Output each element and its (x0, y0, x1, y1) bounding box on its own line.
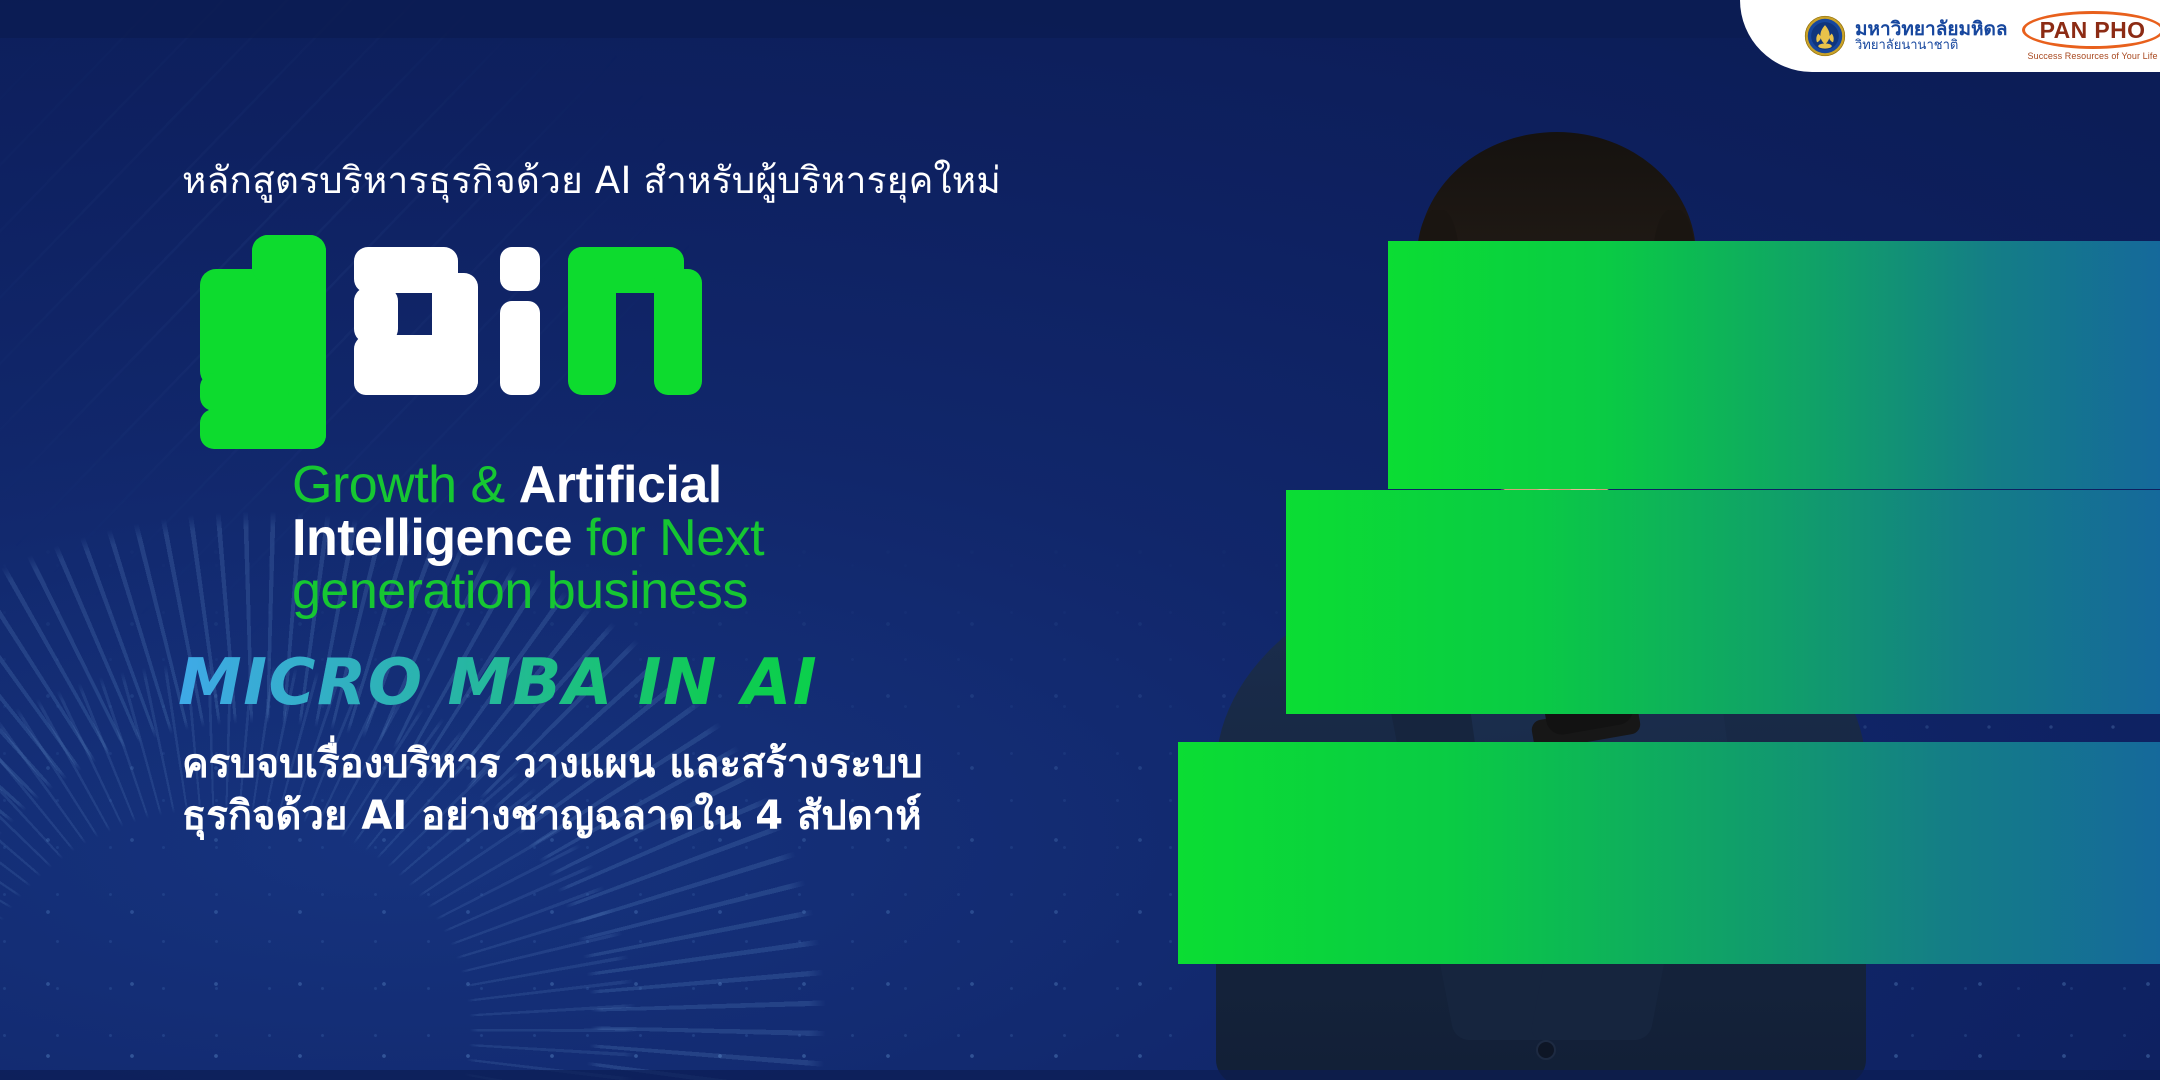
panpho-tagline: Success Resources of Your Life (2027, 51, 2157, 61)
panpho-logo-lockup: PAN PHO Success Resources of Your Life (2022, 11, 2160, 61)
mahidol-text: มหาวิทยาลัยมหิดล วิทยาลัยนานาชาติ (1855, 20, 2008, 53)
tagline-line3: generation business (292, 562, 748, 620)
logo-badge: มหาวิทยาลัยมหิดล วิทยาลัยนานาชาติ PAN PH… (1740, 0, 2160, 72)
thai-body-line-1: ครบจบเรื่องบริหาร วางแผน และสร้างระบบ (182, 738, 1082, 791)
promotional-banner: หลักสูตรบริหารธุรกิจด้วย AI สำหรับผู้บริ… (0, 0, 2160, 1080)
decorative-bar-1 (1388, 241, 2160, 489)
mahidol-logo-lockup: มหาวิทยาลัยมหิดล วิทยาลัยนานาชาติ (1804, 15, 2008, 57)
thai-body-block: ครบจบเรื่องบริหาร วางแผน และสร้างระบบ ธุ… (182, 738, 1082, 844)
wordmark-letter-g (200, 235, 326, 449)
wordmark-letter-i (500, 247, 540, 395)
tagline-line1-b: Artificial (519, 456, 722, 514)
gain-wordmark-logo (182, 231, 722, 453)
thai-body-line-2: ธุรกิจด้วย AI อย่างชาญฉลาดใน 4 สัปดาห์ (182, 790, 1082, 843)
tagline-line1-a: Growth & (292, 456, 519, 514)
suit-button-4 (1536, 1040, 1556, 1060)
panpho-name: PAN PHO (2040, 17, 2146, 44)
wordmark-letter-a (354, 247, 478, 395)
thai-kicker-line: หลักสูตรบริหารธุรกิจด้วย AI สำหรับผู้บริ… (182, 160, 1082, 203)
tagline-line2-a: Intelligence (292, 509, 572, 567)
mahidol-name-line-2: วิทยาลัยนานาชาติ (1855, 39, 2008, 52)
decorative-bar-2 (1286, 490, 2160, 714)
mahidol-seal-icon (1804, 15, 1846, 57)
wordmark-letter-n (568, 247, 702, 395)
panpho-ellipse-icon: PAN PHO (2022, 11, 2160, 49)
decorative-bar-3 (1178, 742, 2160, 964)
background-bottom-band (0, 1070, 2160, 1080)
tagline-line2-b: for Next (572, 509, 764, 567)
headline-column: หลักสูตรบริหารธุรกิจด้วย AI สำหรับผู้บริ… (182, 160, 1082, 843)
gain-wordmark-svg (182, 231, 722, 453)
micro-mba-title: MICRO MBA IN AI (178, 646, 1082, 720)
mahidol-name-line-1: มหาวิทยาลัยมหิดล (1855, 20, 2008, 39)
tagline-block: Growth & Artificial Intelligence for Nex… (292, 459, 932, 618)
